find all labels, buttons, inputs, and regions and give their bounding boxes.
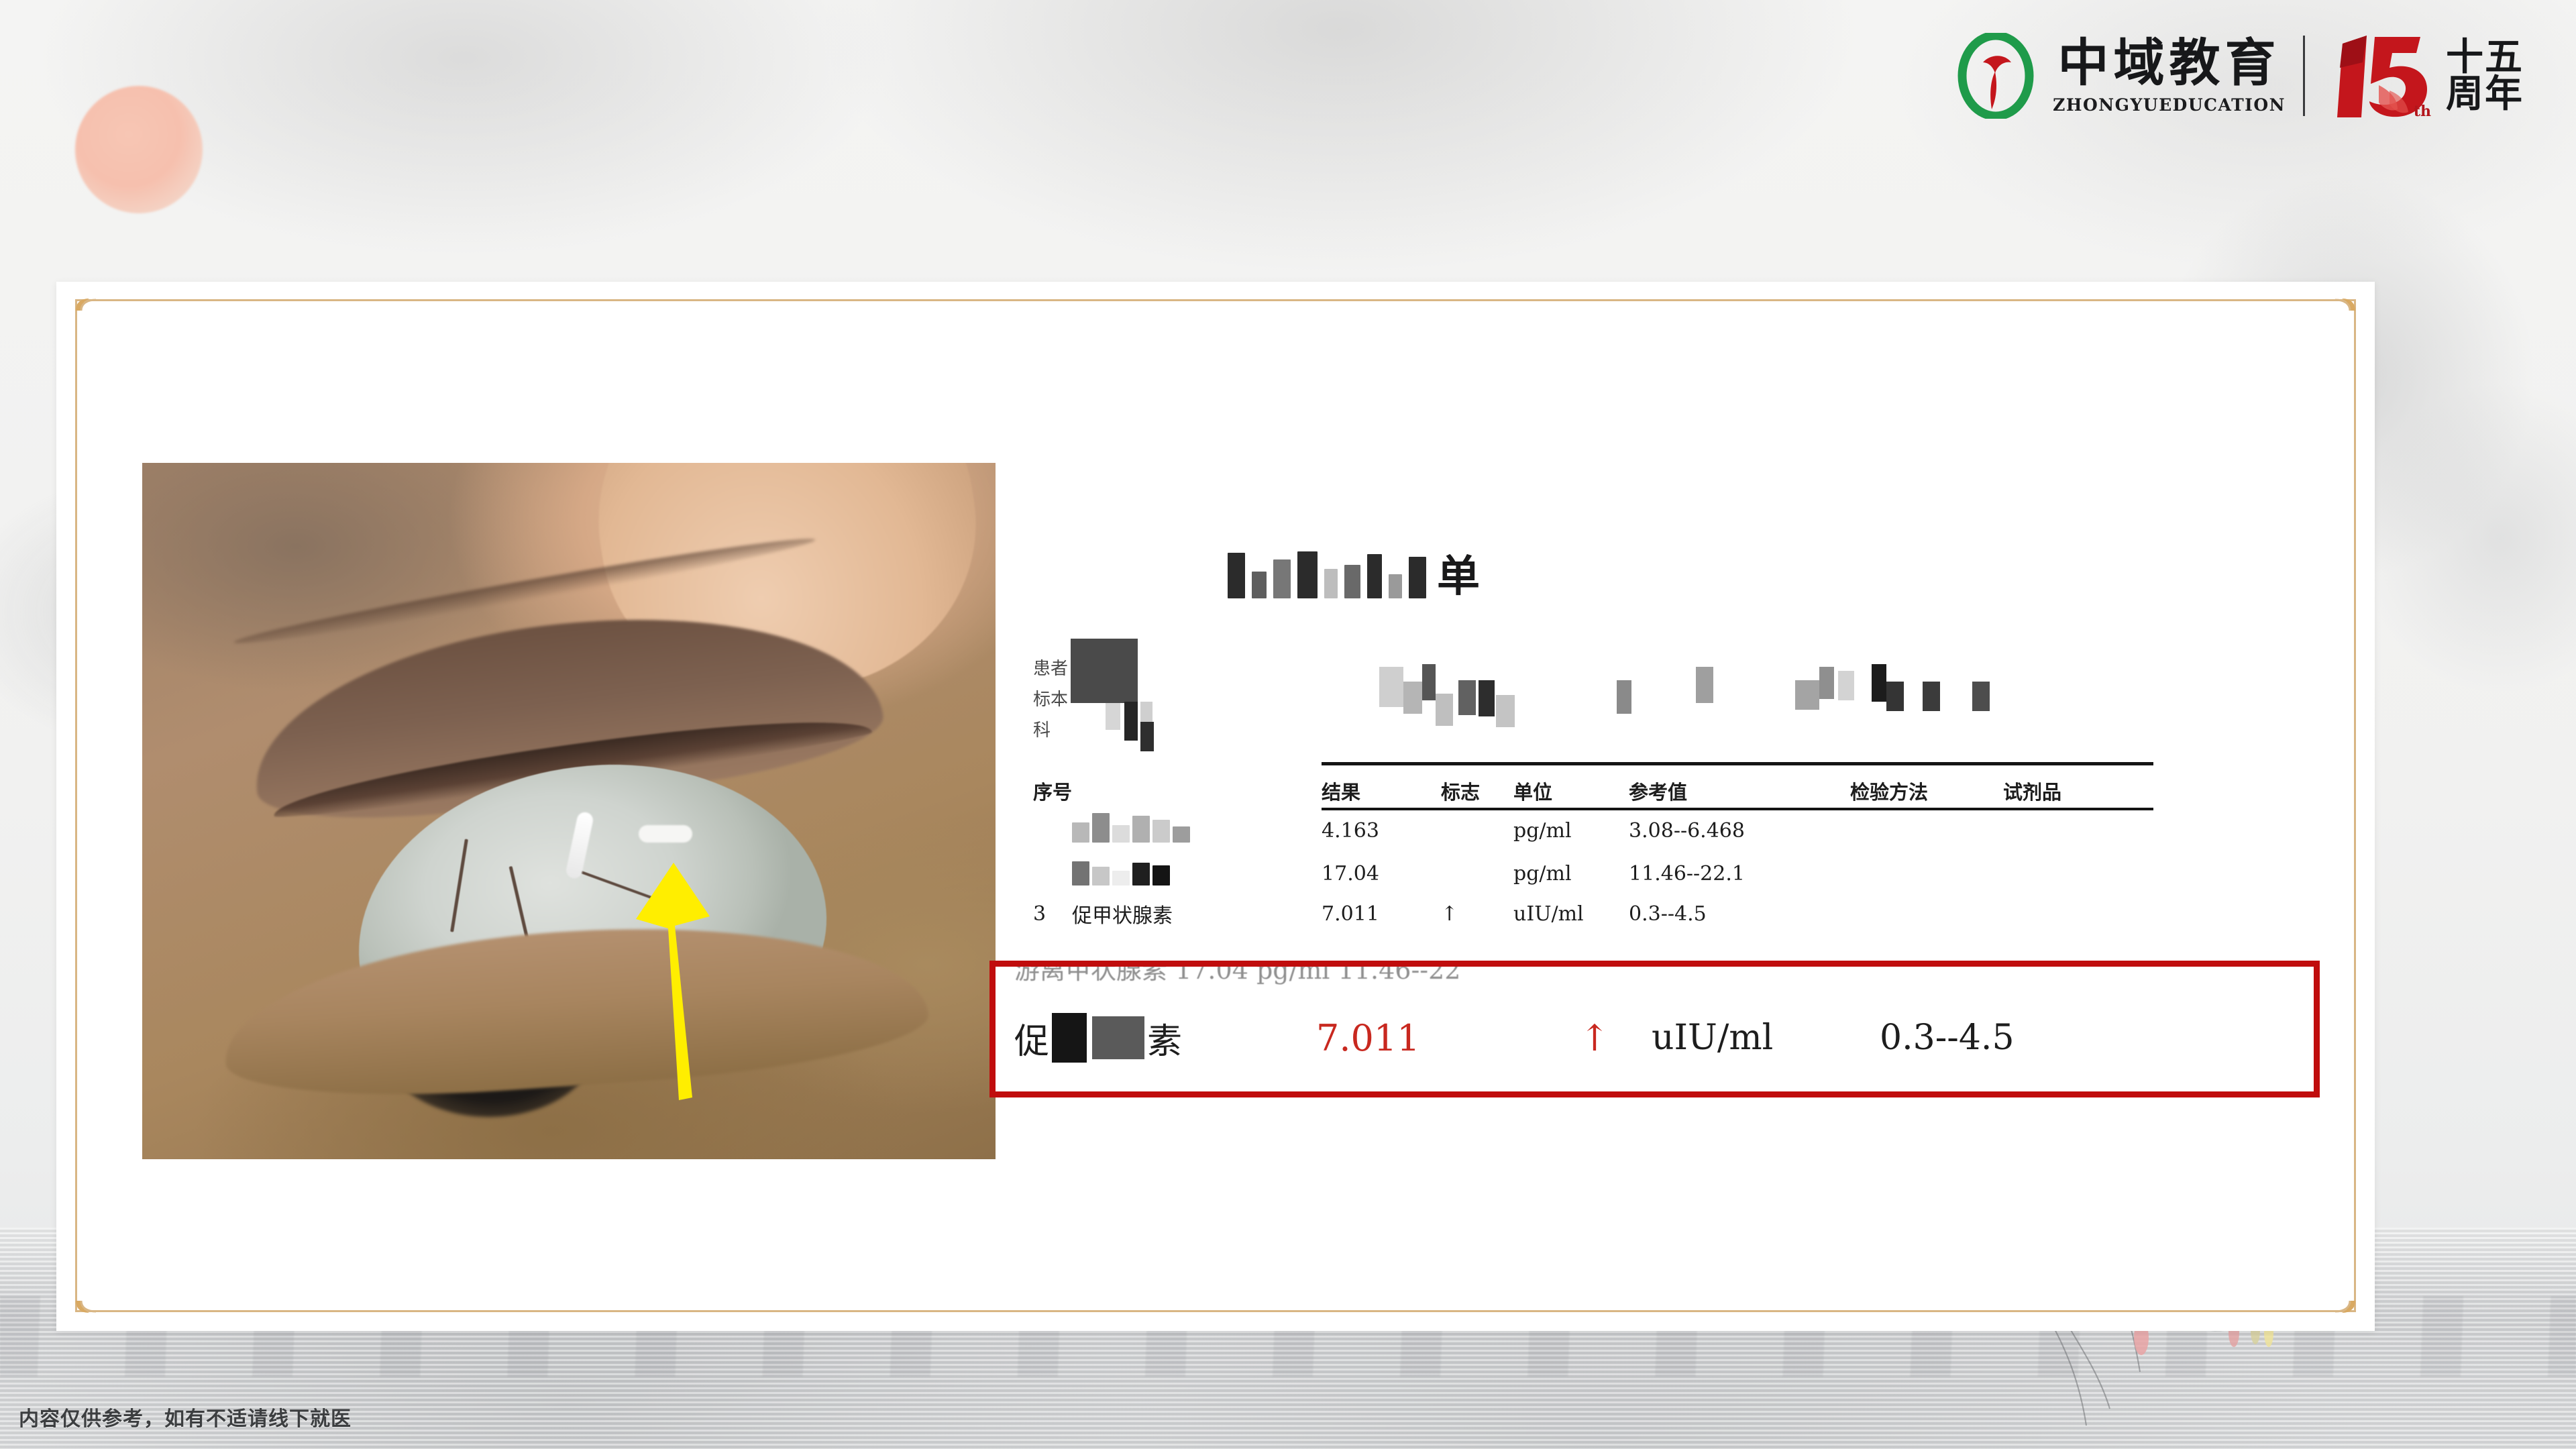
cell-method (1850, 895, 2003, 932)
callout-flag-high-icon: ↑ (1538, 1017, 1652, 1059)
anniversary-number-icon: th (2322, 29, 2436, 123)
callout-result-row: 促 素 7.011 ↑ uIU/ml 0.3--4.5 (1014, 998, 2314, 1078)
col-header-ref: 参考值 (1629, 773, 1850, 809)
brand-wordmark: 中域教育 ZHONGYUEDUCATION (2053, 38, 2286, 115)
col-header-reagent: 试剂品 (2003, 773, 2334, 809)
cell-result: 17.04 (1322, 852, 1441, 895)
anniversary-text: 十五 周年 (2446, 39, 2524, 113)
lab-results-table: 序号 结果 标志 单位 参考值 检验方法 试剂品 (1033, 773, 2334, 932)
brand-name-en: ZHONGYUEDUCATION (2053, 95, 2286, 115)
col-header-unit: 单位 (1513, 773, 1629, 809)
brand-name-cn: 中域教育 (2058, 38, 2281, 89)
meta-label-dept: 科 (1033, 716, 1051, 741)
brand-emblem-icon (1956, 33, 2035, 119)
redacted-item-name (1072, 813, 1190, 843)
report-patient-meta: 患者 标本 科 (1033, 637, 2334, 751)
cell-item: 促甲状腺素 (1072, 895, 1322, 932)
meta-label-patient: 患者 (1033, 655, 1068, 680)
cell-item (1072, 809, 1322, 852)
table-row: 4.163 pg/ml 3.08--6.468 (1033, 809, 2334, 852)
annotation-arrow-icon (631, 859, 751, 1100)
corner-ornament-icon (66, 1278, 109, 1321)
report-title: 单 (1228, 543, 1480, 598)
callout-ghost-row: 游离甲状腺素 17.04 pg/ml 11.46--22 (1014, 961, 1460, 986)
anniversary-suffix: th (2414, 103, 2431, 120)
disclaimer-text: 内容仅供参考，如有不适请线下就医 (19, 1402, 352, 1432)
eye-photograph (142, 463, 996, 1159)
cell-unit: pg/ml (1513, 852, 1629, 895)
corner-ornament-icon (2322, 290, 2365, 333)
photo-specular-highlight (639, 825, 692, 843)
cell-method (1850, 852, 2003, 895)
highlight-callout-box: 游离甲状腺素 17.04 pg/ml 11.46--22 促 素 7.011 ↑… (989, 961, 2320, 1097)
col-header-flag: 标志 (1441, 773, 1513, 809)
corner-ornament-icon (2322, 1278, 2365, 1321)
cell-ref: 0.3--4.5 (1629, 895, 1850, 932)
cell-ref: 3.08--6.468 (1629, 809, 1850, 852)
cell-no (1033, 852, 1072, 895)
cell-reagent (2003, 852, 2334, 895)
cell-method (1850, 809, 2003, 852)
corner-ornament-icon (66, 290, 109, 333)
cell-result: 7.011 (1322, 895, 1441, 932)
cell-reagent (2003, 809, 2334, 852)
logo-divider (2303, 36, 2305, 116)
table-rule-top (1322, 762, 2153, 765)
callout-name-suffix: 素 (1147, 1013, 1182, 1063)
col-header-no: 序号 (1033, 773, 1072, 809)
decorative-sun-circle (75, 86, 203, 213)
lab-report-image: 单 患者 标本 科 序号 结果 标 (1033, 537, 2334, 953)
col-header-method: 检验方法 (1850, 773, 2003, 809)
anniversary-line2: 周年 (2446, 76, 2524, 113)
col-header-result: 结果 (1322, 773, 1441, 809)
cell-unit: pg/ml (1513, 809, 1629, 852)
cell-flag-high-icon: ↑ (1441, 895, 1513, 932)
callout-reference-range: 0.3--4.5 (1880, 1018, 2161, 1058)
callout-unit: uIU/ml (1652, 1018, 1880, 1058)
anniversary-badge: th 十五 周年 (2322, 29, 2524, 123)
cell-unit: uIU/ml (1513, 895, 1629, 932)
callout-item-name: 促 素 (1014, 1013, 1316, 1063)
cell-flag (1441, 852, 1513, 895)
cell-no (1033, 809, 1072, 852)
meta-label-specimen: 标本 (1033, 686, 1068, 710)
cell-no: 3 (1033, 895, 1072, 932)
callout-name-prefix: 促 (1014, 1013, 1049, 1063)
cell-flag (1441, 809, 1513, 852)
redacted-item-name (1072, 856, 1170, 885)
callout-result: 7.011 (1316, 1017, 1538, 1059)
table-header-row: 序号 结果 标志 单位 参考值 检验方法 试剂品 (1033, 773, 2334, 809)
brand-logo-bar: 中域教育 ZHONGYUEDUCATION th 十五 周年 (1956, 25, 2524, 126)
table-row-highlighted: 3 促甲状腺素 7.011 ↑ uIU/ml 0.3--4.5 (1033, 895, 2334, 932)
anniversary-line1: 十五 (2446, 39, 2524, 76)
cell-result: 4.163 (1322, 809, 1441, 852)
report-title-visible-char: 单 (1437, 555, 1480, 598)
col-header-item (1072, 773, 1322, 809)
cell-reagent (2003, 895, 2334, 932)
cell-item (1072, 852, 1322, 895)
cell-ref: 11.46--22.1 (1629, 852, 1850, 895)
table-row: 17.04 pg/ml 11.46--22.1 (1033, 852, 2334, 895)
